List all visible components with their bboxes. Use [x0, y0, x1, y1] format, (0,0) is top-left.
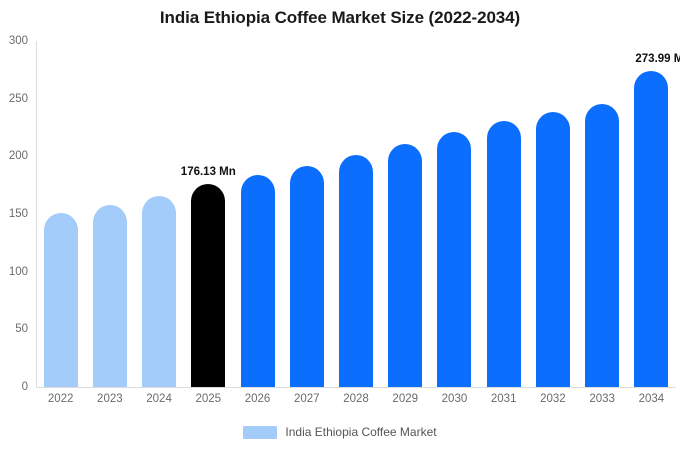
x-axis-tick-label: 2022 — [48, 393, 74, 405]
bar-2028[interactable] — [339, 155, 373, 387]
x-axis-tick-label: 2031 — [491, 393, 517, 405]
bar-slot — [331, 41, 380, 387]
bar-slot — [282, 41, 331, 387]
bars-layer: 176.13 Mn273.99 Mn — [36, 41, 676, 388]
bar-slot — [233, 41, 282, 387]
x-axis-tick-label: 2023 — [97, 393, 123, 405]
y-axis-tick-label: 100 — [0, 266, 28, 278]
bar-slot — [36, 41, 85, 387]
bar-slot — [528, 41, 577, 387]
bar-2029[interactable] — [388, 144, 422, 387]
bar-slot — [430, 41, 479, 387]
x-axis-tick-label: 2029 — [392, 393, 418, 405]
legend-label: India Ethiopia Coffee Market — [285, 425, 436, 439]
plot-area: 176.13 Mn273.99 Mn 050100150200250300 20… — [36, 41, 676, 388]
bar-2027[interactable] — [290, 166, 324, 387]
bar-slot: 176.13 Mn — [184, 41, 233, 387]
bar-slot — [381, 41, 430, 387]
x-axis-tick-label: 2026 — [245, 393, 271, 405]
y-axis-tick-label: 150 — [0, 208, 28, 220]
x-axis-tick-label: 2032 — [540, 393, 566, 405]
bar-value-label: 273.99 Mn — [635, 53, 680, 65]
bar-2026[interactable] — [241, 175, 275, 387]
bar-2024[interactable] — [142, 196, 176, 387]
x-axis-tick-label: 2027 — [294, 393, 320, 405]
x-axis-tick-label: 2025 — [196, 393, 222, 405]
bar-slot — [134, 41, 183, 387]
y-axis-tick-label: 50 — [0, 323, 28, 335]
x-axis-tick-label: 2024 — [146, 393, 172, 405]
legend-swatch — [243, 426, 277, 439]
y-axis-tick-label: 0 — [0, 381, 28, 393]
bar-2033[interactable] — [585, 104, 619, 387]
x-axis-tick-label: 2030 — [442, 393, 468, 405]
bar-value-label: 176.13 Mn — [181, 166, 236, 178]
x-axis-tick-label: 2028 — [343, 393, 369, 405]
bar-2030[interactable] — [437, 132, 471, 387]
bar-2034[interactable]: 273.99 Mn — [634, 71, 668, 387]
bar-chart: India Ethiopia Coffee Market Size (2022-… — [0, 0, 680, 450]
chart-title: India Ethiopia Coffee Market Size (2022-… — [0, 8, 680, 28]
x-axis-tick-label: 2034 — [639, 393, 665, 405]
bar-slot — [85, 41, 134, 387]
chart-legend: India Ethiopia Coffee Market — [0, 425, 680, 439]
bar-2032[interactable] — [536, 112, 570, 387]
y-axis-tick-label: 250 — [0, 93, 28, 105]
bar-2022[interactable] — [44, 213, 78, 387]
bar-slot: 273.99 Mn — [627, 41, 676, 387]
bar-slot — [578, 41, 627, 387]
bar-slot — [479, 41, 528, 387]
bar-2023[interactable] — [93, 205, 127, 387]
bar-2031[interactable] — [487, 121, 521, 387]
y-axis-tick-label: 200 — [0, 150, 28, 162]
y-axis-tick-label: 300 — [0, 35, 28, 47]
bar-2025[interactable]: 176.13 Mn — [191, 184, 225, 387]
x-axis-tick-label: 2033 — [589, 393, 615, 405]
